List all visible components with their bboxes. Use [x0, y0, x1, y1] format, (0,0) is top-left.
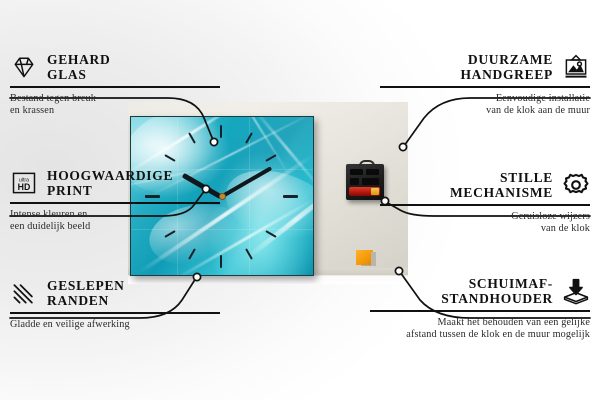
feature-title: GEHARD — [47, 52, 110, 67]
feature-hoogwaardige-print: ultra HD HOOGWAARDIGE PRINT Intense kleu… — [10, 168, 220, 234]
feature-title: HOOGWAARDIGE — [47, 168, 173, 183]
feature-description: een duidelijk beeld — [10, 221, 220, 234]
feature-stille-mechanisme: STILLE MECHANISME Geruisloze wijzers van… — [380, 170, 590, 236]
diamond-icon — [10, 53, 38, 81]
foam-spacer-part — [356, 250, 373, 265]
clock-hands-hub — [219, 193, 226, 200]
quartz-movement — [346, 164, 384, 200]
picture-hanger-icon — [562, 53, 590, 81]
feature-description: Eenvoudige installatie — [380, 93, 590, 106]
feature-description: van de klok — [380, 223, 590, 236]
feature-geslepen-randen: GESLEPEN RANDEN Gladde en veilige afwerk… — [10, 278, 220, 331]
feature-description: van de klok aan de muur — [380, 105, 590, 118]
feature-title: STILLE — [450, 170, 553, 185]
foam-spacer-icon — [562, 277, 590, 305]
feature-description: Geruisloze wijzers — [380, 211, 590, 224]
divider — [380, 204, 590, 206]
feature-title: PRINT — [47, 183, 173, 198]
gear-icon — [562, 171, 590, 199]
feature-description: Maakt het behouden van een gelijke — [370, 317, 590, 330]
feature-description: Gladde en veilige afwerking — [10, 319, 220, 332]
hour-tick — [283, 195, 298, 198]
feature-title: STANDHOUDER — [441, 291, 553, 306]
battery — [349, 187, 380, 196]
feature-title: MECHANISME — [450, 185, 553, 200]
beveled-edges-icon — [10, 279, 38, 307]
divider — [370, 310, 590, 312]
feature-description: afstand tussen de klok en de muur mogeli… — [370, 329, 590, 342]
ultra-hd-icon: ultra HD — [10, 169, 38, 197]
divider — [10, 86, 220, 88]
feature-title: RANDEN — [47, 293, 125, 308]
infographic-canvas: GEHARD GLAS Bestand tegen breuk en krass… — [0, 0, 600, 400]
feature-description: Intense kleuren en — [10, 209, 220, 222]
feature-description: en krassen — [10, 105, 220, 118]
feature-description: Bestand tegen breuk — [10, 93, 220, 106]
feature-schuimafstandhouder: SCHUIMAF- STANDHOUDER Maakt het behouden… — [370, 276, 590, 342]
divider — [10, 312, 220, 314]
hour-tick — [220, 255, 222, 268]
feature-title: GESLEPEN — [47, 278, 125, 293]
feature-gehard-glas: GEHARD GLAS Bestand tegen breuk en krass… — [10, 52, 220, 118]
movement-hanger — [359, 160, 375, 168]
divider — [10, 202, 220, 204]
feature-duurzame-handgreep: DUURZAME HANDGREEP Eenvoudige installati… — [380, 52, 590, 118]
feature-title: DUURZAME — [460, 52, 553, 67]
feature-title: SCHUIMAF- — [441, 276, 553, 291]
svg-text:HD: HD — [18, 182, 31, 192]
divider — [380, 86, 590, 88]
feature-title: HANDGREEP — [460, 67, 553, 82]
feature-title: GLAS — [47, 67, 110, 82]
hour-tick — [220, 125, 222, 138]
